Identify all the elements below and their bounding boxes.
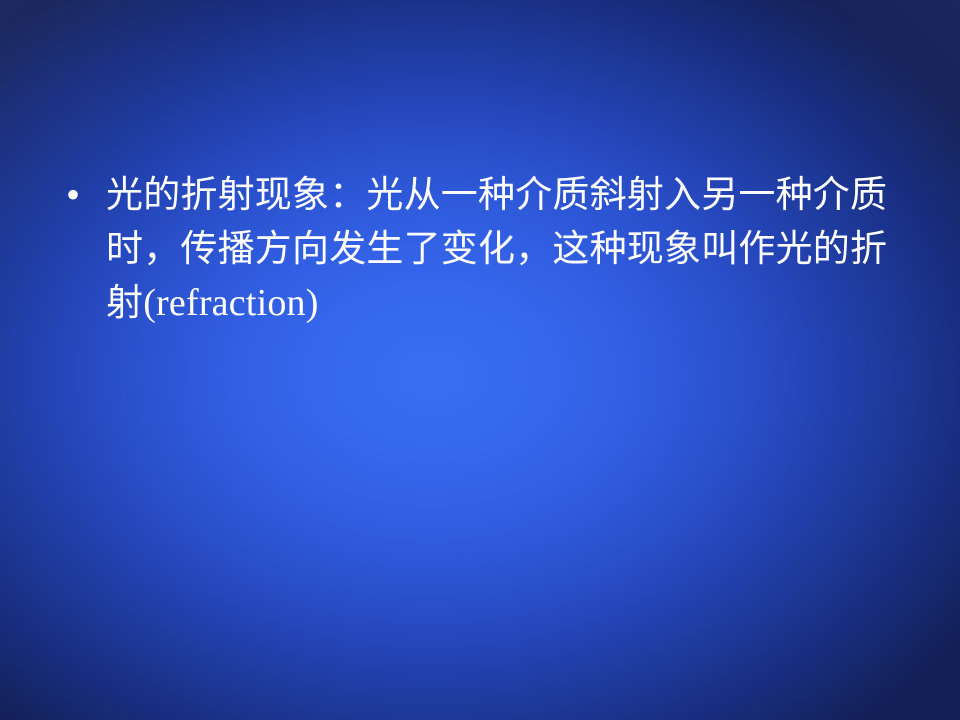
bullet-point-icon: • [60,168,106,222]
bullet-text-latin-term: (refraction) [143,282,318,324]
bullet-text: 光的折射现象：光从一种介质斜射入另一种介质时，传播方向发生了变化，这种现象叫作光… [106,168,908,330]
presentation-slide: • 光的折射现象：光从一种介质斜射入另一种介质时，传播方向发生了变化，这种现象叫… [0,0,960,720]
list-item: • 光的折射现象：光从一种介质斜射入另一种介质时，传播方向发生了变化，这种现象叫… [60,168,908,330]
slide-content-placeholder: • 光的折射现象：光从一种介质斜射入另一种介质时，传播方向发生了变化，这种现象叫… [60,168,908,330]
